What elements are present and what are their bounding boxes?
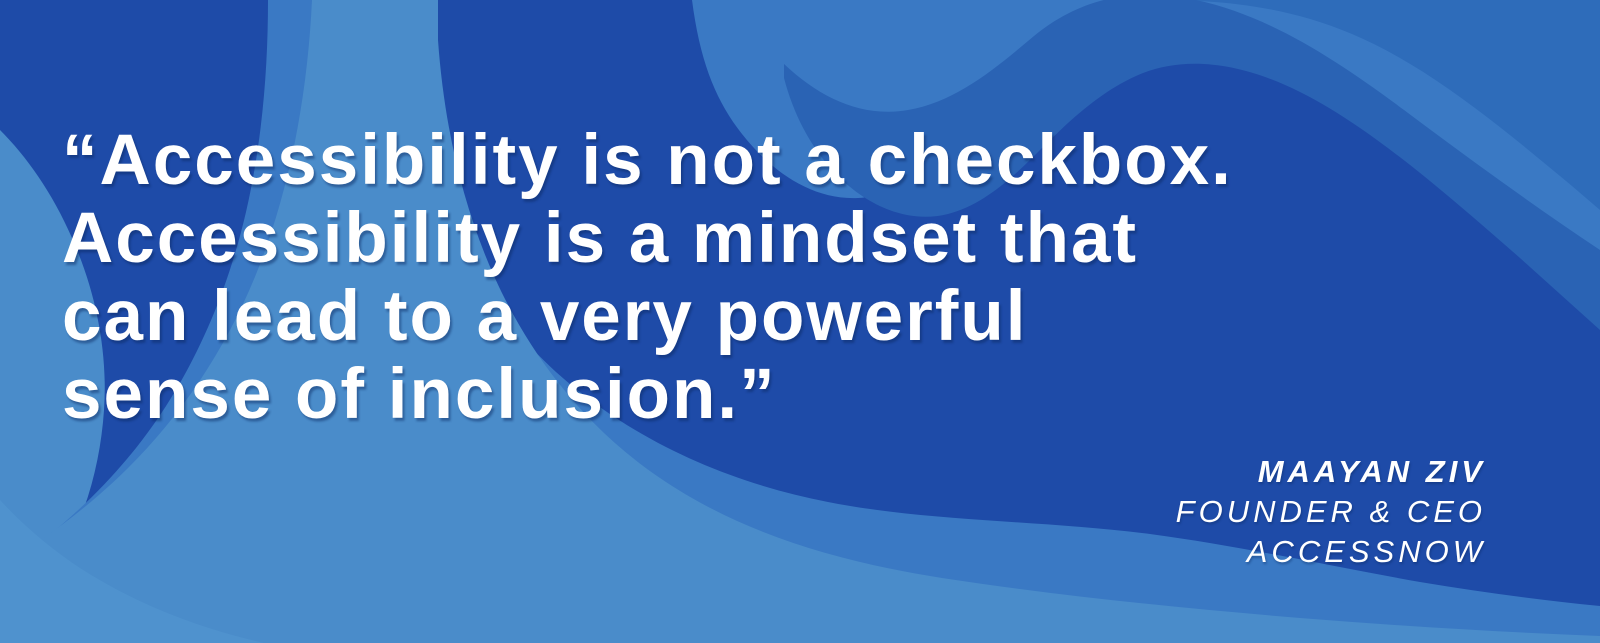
quote-line-3: can lead to a very powerful <box>62 278 1482 356</box>
quote-card: “Accessibility is not a checkbox. Access… <box>0 0 1600 643</box>
quote-text: “Accessibility is not a checkbox. Access… <box>62 122 1482 434</box>
bottom-left-corner-pale-shape <box>0 500 264 643</box>
attribution-role: FOUNDER & CEO <box>1176 492 1486 532</box>
attribution-name: MAAYAN ZIV <box>1176 452 1486 492</box>
quote-line-4: sense of inclusion.” <box>62 356 1482 434</box>
quote-line-2: Accessibility is a mindset that <box>62 200 1482 278</box>
attribution-organization: ACCESSNOW <box>1176 532 1486 572</box>
attribution-block: MAAYAN ZIV FOUNDER & CEO ACCESSNOW <box>1176 452 1486 572</box>
quote-line-1: “Accessibility is not a checkbox. <box>62 122 1482 200</box>
